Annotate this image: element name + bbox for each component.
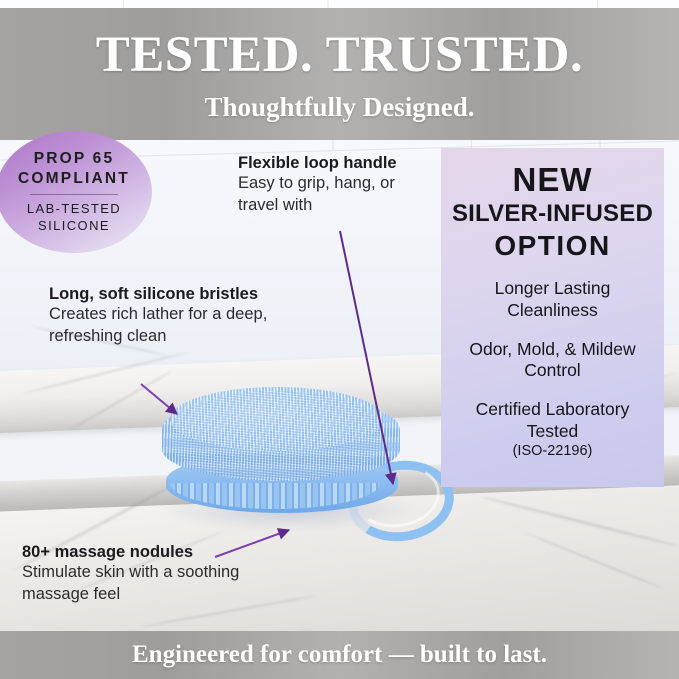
product-image-silicone-brush: [148, 375, 418, 535]
header-banner: TESTED. TRUSTED. Thoughtfully Designed.: [0, 8, 679, 140]
silver-infused-panel: NEW SILVER-INFUSED OPTION Longer Lasting…: [441, 148, 664, 487]
callout-body: Stimulate skin with a soothing massage f…: [22, 562, 252, 605]
callout-loop-handle: Flexible loop handle Easy to grip, hang,…: [238, 153, 438, 216]
headline-secondary: Thoughtfully Designed.: [0, 94, 679, 121]
panel-benefit-1: Longer Lasting Cleanliness: [449, 278, 656, 321]
panel-benefit-3: Certified Laboratory Tested: [449, 399, 656, 442]
footer-banner: Engineered for comfort — built to last.: [0, 631, 679, 679]
panel-benefit-2: Odor, Mold, & Mildew Control: [449, 339, 656, 382]
callout-body: Creates rich lather for a deep, refreshi…: [49, 304, 299, 347]
headline-primary: TESTED. TRUSTED.: [0, 30, 679, 81]
panel-headline-option: OPTION: [449, 230, 656, 261]
footer-tagline: Engineered for comfort — built to last.: [0, 631, 679, 679]
panel-benefit-3-note: (ISO-22196): [449, 443, 656, 461]
callout-massage-nodules: 80+ massage nodules Stimulate skin with …: [22, 542, 252, 605]
callout-body: Easy to grip, hang, or travel with: [238, 173, 438, 216]
product-infographic: TESTED. TRUSTED. Thoughtfully Designed. …: [0, 0, 679, 679]
prop65-badge-title: PROP 65 COMPLIANT: [0, 149, 152, 188]
callout-heading: 80+ massage nodules: [22, 542, 252, 562]
callout-heading: Flexible loop handle: [238, 153, 438, 173]
prop65-badge: PROP 65 COMPLIANT LAB-TESTED SILICONE: [0, 131, 152, 253]
panel-headline-new: NEW: [449, 162, 656, 199]
panel-headline-silver-infused: SILVER-INFUSED: [449, 201, 656, 228]
badge-divider: [30, 194, 118, 195]
callout-bristles: Long, soft silicone bristles Creates ric…: [49, 284, 299, 347]
bristle-texture: [172, 391, 380, 481]
prop65-badge-subtitle: LAB-TESTED SILICONE: [0, 201, 152, 235]
callout-heading: Long, soft silicone bristles: [49, 284, 299, 304]
